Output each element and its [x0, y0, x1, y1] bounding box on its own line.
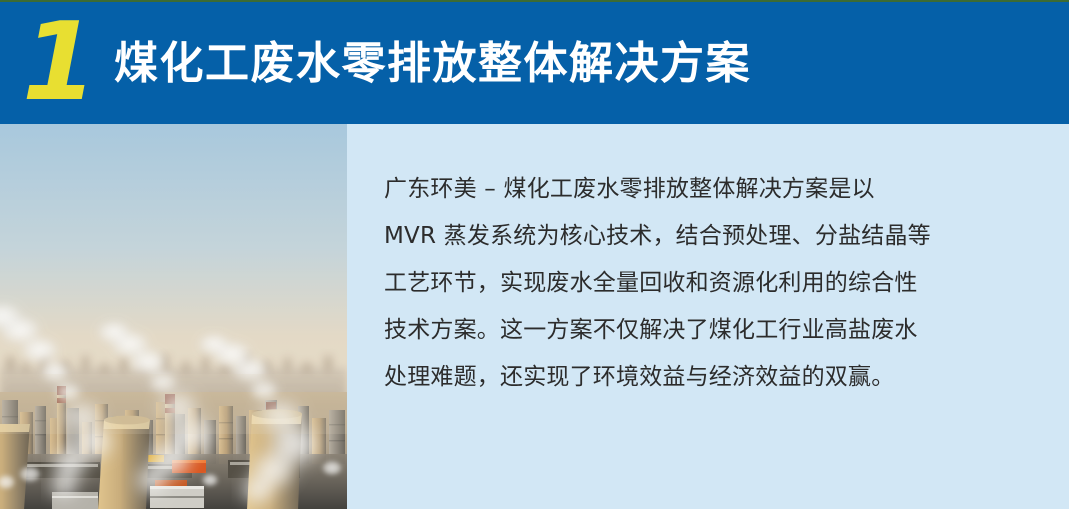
description-paragraph: 广东环美 – 煤化工废水零排放整体解决方案是以 MVR 蒸发系统为核心技术，结合…: [384, 166, 1024, 401]
page-title: 煤化工废水零排放整体解决方案: [114, 36, 751, 92]
industrial-photo: [0, 124, 347, 510]
slide-page: 1 煤化工废水零排放整体解决方案: [0, 0, 1071, 510]
header-band: 1 煤化工废水零排放整体解决方案: [0, 2, 1069, 124]
section-number: 1: [22, 10, 106, 116]
header-inner: 1 煤化工废水零排放整体解决方案: [0, 2, 1069, 124]
industrial-photo-graphic: [0, 124, 347, 510]
